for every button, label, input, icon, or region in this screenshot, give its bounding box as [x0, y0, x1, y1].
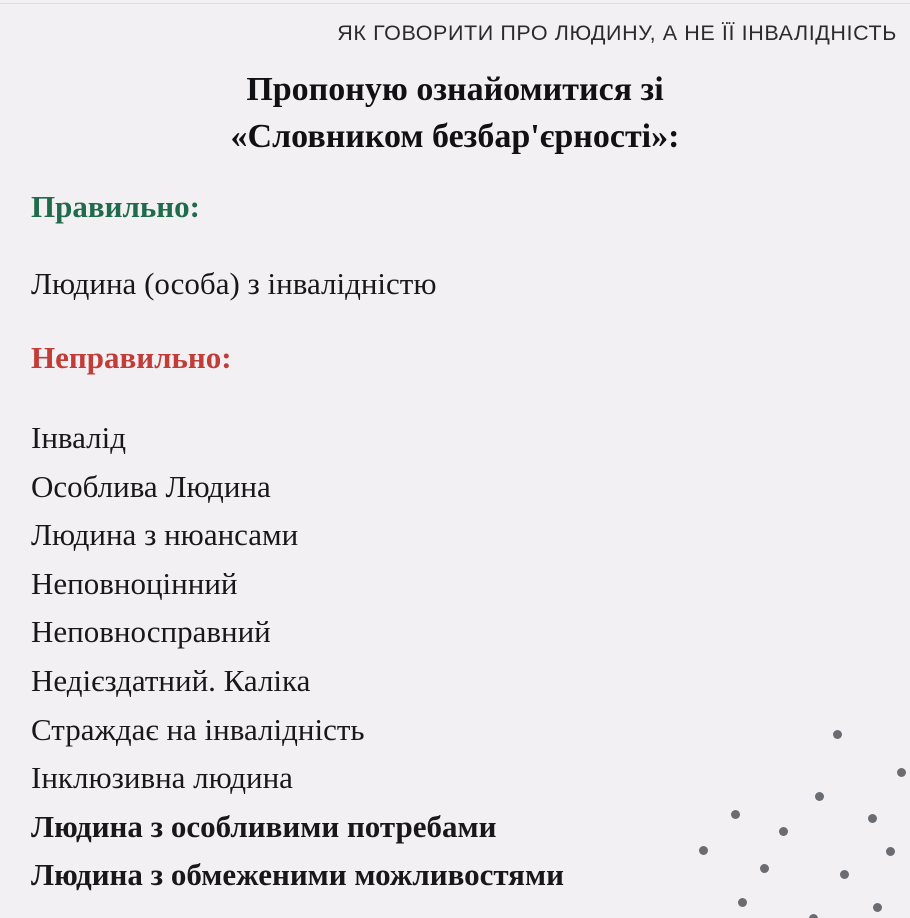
list-item: Людина з обмеженими можливостями	[31, 851, 891, 900]
page-title-line-2: «Словником безбар'єрності»:	[0, 113, 910, 160]
incorrect-terms-list: ІнвалідОсоблива ЛюдинаЛюдина з нюансамиН…	[31, 414, 891, 900]
correct-section-heading: Правильно:	[31, 188, 200, 226]
incorrect-section-heading: Неправильно:	[31, 339, 232, 377]
list-item: Інвалід	[31, 414, 891, 463]
list-item: Особлива Людина	[31, 463, 891, 512]
top-hairline-divider	[0, 3, 910, 4]
decorative-dot	[809, 914, 818, 918]
list-item: Страждає на інвалідність	[31, 706, 891, 755]
list-item: Інклюзивна людина	[31, 754, 891, 803]
decorative-dot	[897, 768, 906, 777]
list-item: Людина з нюансами	[31, 511, 891, 560]
poster-canvas: ЯК ГОВОРИТИ ПРО ЛЮДИНУ, А НЕ ЇЇ ІНВАЛІДН…	[0, 0, 910, 918]
list-item: Неповносправний	[31, 608, 891, 657]
list-item: Неповноцінний	[31, 560, 891, 609]
page-title-line-1: Пропоную ознайомитися зі	[0, 66, 910, 113]
decorative-dot	[873, 903, 882, 912]
correct-term: Людина (особа) з інвалідністю	[31, 264, 437, 304]
kicker-headline: ЯК ГОВОРИТИ ПРО ЛЮДИНУ, А НЕ ЇЇ ІНВАЛІДН…	[337, 20, 897, 46]
list-item: Людина з особливими потребами	[31, 803, 891, 852]
page-title: Пропоную ознайомитися зі «Словником безб…	[0, 66, 910, 160]
list-item: Недієздатний. Каліка	[31, 657, 891, 706]
